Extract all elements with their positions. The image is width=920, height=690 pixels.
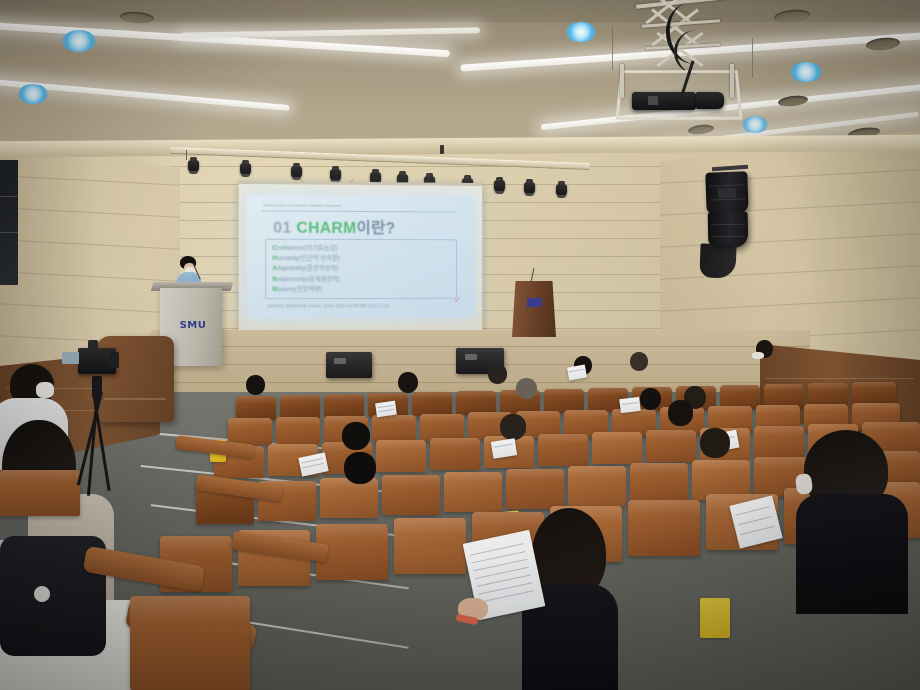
seat[interactable] bbox=[592, 432, 642, 464]
seat[interactable] bbox=[628, 500, 700, 556]
door-seam bbox=[0, 196, 18, 197]
slide-title-suffix: 이란? bbox=[356, 220, 395, 237]
list-item: Relationship(관계형성력) bbox=[272, 275, 456, 285]
auditorium-photo: SANGMYUNG UNIVERSITY CHARM PROGRAM 01 CH… bbox=[0, 0, 920, 690]
wooden-lectern bbox=[512, 281, 556, 337]
seat[interactable] bbox=[276, 417, 320, 444]
seat[interactable] bbox=[412, 392, 452, 416]
lectern-emblem bbox=[527, 298, 542, 307]
hanger-wire bbox=[612, 26, 613, 70]
side-door[interactable] bbox=[0, 160, 18, 285]
slide-number: 01 bbox=[273, 220, 291, 237]
seat[interactable] bbox=[538, 434, 588, 466]
audience-head bbox=[630, 352, 648, 371]
line-array-speaker bbox=[708, 212, 749, 249]
audience-head bbox=[398, 372, 418, 393]
stage-floor-monitor bbox=[326, 352, 372, 378]
tripod-head bbox=[92, 376, 102, 398]
seat[interactable] bbox=[0, 470, 80, 516]
stage-light-fixture bbox=[240, 163, 251, 175]
seat[interactable] bbox=[646, 430, 696, 462]
seat[interactable] bbox=[376, 440, 426, 472]
slide-eyebrow-text: SANGMYUNG UNIVERSITY CHARM PROGRAM bbox=[263, 203, 341, 208]
blue-accent-light bbox=[62, 30, 96, 52]
slide-footnote: 상명대학교 학생핵심역량 CHARM, 인재상 기반의 5대 핵심역량 진단도구… bbox=[267, 304, 389, 310]
audience-torso bbox=[796, 494, 908, 614]
list-item: Confidence(자기효능감) bbox=[272, 244, 456, 255]
check-mark-icon: ✓ bbox=[454, 296, 463, 305]
audience-head bbox=[640, 388, 661, 410]
line-array-speaker bbox=[705, 171, 748, 214]
audience-head bbox=[700, 428, 730, 458]
rail-bevel bbox=[104, 398, 166, 400]
audience-head bbox=[342, 422, 370, 450]
stage-light-fixture bbox=[494, 180, 505, 192]
seat[interactable] bbox=[420, 414, 464, 441]
stage-light-fixture bbox=[188, 160, 199, 172]
audience-head bbox=[488, 364, 507, 384]
seat[interactable] bbox=[324, 394, 364, 418]
face-mask bbox=[752, 352, 764, 359]
audience-head bbox=[344, 452, 376, 484]
smu-logo: SMU bbox=[176, 320, 210, 331]
stage-light-fixture bbox=[556, 184, 567, 196]
seat[interactable] bbox=[430, 438, 480, 470]
truss-clamp bbox=[440, 145, 444, 154]
list-item: Adaptability(환경적응력) bbox=[272, 264, 456, 274]
seat[interactable] bbox=[372, 415, 416, 442]
camera-lens bbox=[110, 352, 119, 368]
blue-accent-light bbox=[18, 84, 48, 104]
printed-handout bbox=[375, 401, 397, 418]
audience-head bbox=[516, 378, 537, 399]
seat[interactable] bbox=[320, 478, 378, 518]
projection-screen: SANGMYUNG UNIVERSITY CHARM PROGRAM 01 CH… bbox=[239, 181, 483, 355]
face-mask bbox=[36, 382, 54, 398]
slide-keyword: CHARM bbox=[296, 220, 356, 237]
list-item: Humanity(인간적 성숙함) bbox=[272, 254, 456, 264]
audience-member-reading bbox=[480, 500, 630, 690]
charm-bullet-list: Confidence(자기효능감) Humanity(인간적 성숙함) Adap… bbox=[265, 239, 457, 300]
seat[interactable] bbox=[280, 395, 320, 419]
presentation-slide: SANGMYUNG UNIVERSITY CHARM PROGRAM 01 CH… bbox=[247, 195, 475, 319]
backpack-button bbox=[34, 586, 50, 602]
slide-title: 01 CHARM이란? bbox=[273, 216, 395, 239]
stage-light-fixture bbox=[524, 182, 535, 194]
yellow-bag bbox=[700, 598, 730, 638]
seat[interactable] bbox=[236, 396, 276, 420]
seat[interactable] bbox=[228, 418, 272, 445]
door-seam bbox=[0, 232, 18, 233]
audience-head bbox=[500, 414, 526, 440]
projector bbox=[632, 92, 696, 110]
audience-head bbox=[668, 400, 693, 426]
seat[interactable] bbox=[630, 463, 688, 503]
audience-member bbox=[770, 430, 910, 630]
printed-handout bbox=[619, 397, 641, 413]
face-mask bbox=[795, 473, 814, 495]
seat[interactable] bbox=[394, 518, 466, 574]
slide-divider bbox=[261, 210, 457, 212]
seat[interactable] bbox=[382, 475, 440, 515]
audience-head bbox=[246, 375, 265, 395]
blue-accent-light bbox=[790, 62, 822, 82]
camera-microphone bbox=[88, 340, 98, 349]
seat[interactable] bbox=[130, 596, 250, 690]
list-item: Mastery(전문역량) bbox=[272, 285, 456, 296]
camera-flip-screen bbox=[62, 352, 79, 364]
truss-hanger bbox=[186, 150, 187, 160]
hanger-wire bbox=[752, 38, 753, 78]
